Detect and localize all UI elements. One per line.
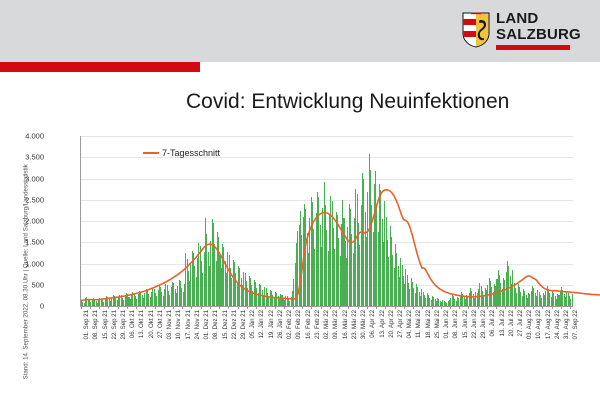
x-axis-tick-label: 13. Jul 22 [499, 310, 506, 336]
x-axis-tick [450, 306, 451, 309]
logo-line-salzburg: SALZBURG [496, 27, 581, 43]
header-accent-bar [0, 62, 200, 72]
x-axis-tick-label: 17. Nov 21 [185, 310, 192, 339]
y-axis-tick-label: 500 [2, 280, 44, 289]
x-axis-tick-label: 20. Apr 22 [388, 310, 395, 338]
x-axis-tick [265, 306, 266, 309]
x-axis-tick [90, 306, 91, 309]
x-axis-tick [81, 306, 82, 309]
x-axis-tick-label: 09. Mär 22 [332, 310, 339, 339]
x-axis-tick-label: 29. Jun 22 [480, 310, 487, 338]
x-axis-tick [348, 306, 349, 309]
x-axis-tick [496, 306, 497, 309]
x-axis-tick-label: 10. Nov 21 [175, 310, 182, 339]
y-axis-tick-label: 4.000 [2, 132, 44, 141]
salzburg-coat-of-arms-icon [462, 12, 490, 48]
x-axis-tick [219, 306, 220, 309]
y-axis-tick-label: 1.500 [2, 238, 44, 247]
x-axis-tick [570, 306, 571, 309]
x-axis-tick [459, 306, 460, 309]
y-axis-tick-label: 3.500 [2, 153, 44, 162]
x-axis-tick [201, 306, 202, 309]
x-axis-tick [533, 306, 534, 309]
x-axis-tick [542, 306, 543, 309]
x-axis-tick-label: 26. Jän 22 [277, 310, 284, 338]
x-axis-tick [505, 306, 506, 309]
x-axis-tick [145, 306, 146, 309]
x-axis-tick [228, 306, 229, 309]
x-axis-tick-label: 07. Sep 22 [572, 310, 579, 339]
x-axis-tick-label: 06. Okt 21 [129, 310, 136, 338]
x-axis-tick [210, 306, 211, 309]
x-axis-tick [561, 306, 562, 309]
x-axis-tick-label: 19. Jän 22 [268, 310, 275, 338]
legend-label-seven-day-average: 7-Tagesschnitt [162, 148, 220, 158]
x-axis-tick-label: 12. Jän 22 [258, 310, 265, 338]
covid-new-infections-chart: 7-Tagesschnitt 05001.0001.5002.0002.5003… [32, 132, 588, 377]
x-axis-tick [256, 306, 257, 309]
x-axis-tick-label: 23. Mär 22 [351, 310, 358, 339]
x-axis-tick-label: 08. Sep 21 [92, 310, 99, 339]
x-axis-tick [395, 306, 396, 309]
x-axis-tick-label: 27. Okt 21 [157, 310, 164, 338]
x-axis-tick-label: 29. Dez 21 [240, 310, 247, 339]
x-axis-tick-label: 16. Mär 22 [342, 310, 349, 339]
x-axis-tick [191, 306, 192, 309]
x-axis-tick-label: 08. Dez 21 [212, 310, 219, 339]
x-axis-tick [155, 306, 156, 309]
x-axis-tick-label: 09. Feb 22 [295, 310, 302, 339]
x-axis-tick [339, 306, 340, 309]
x-axis-tick [432, 306, 433, 309]
x-axis-tick-label: 03. Nov 21 [166, 310, 173, 339]
x-axis-tick-label: 24. Nov 21 [194, 310, 201, 339]
logo-line-land: LAND [496, 11, 581, 27]
x-axis-tick-label: 06. Apr 22 [369, 310, 376, 338]
x-axis-tick [99, 306, 100, 309]
x-axis-tick-label: 11. Mai 22 [415, 310, 422, 338]
x-axis-tick-label: 01. Dez 21 [203, 310, 210, 339]
page-title: Covid: Entwicklung Neuinfektionen [186, 90, 509, 114]
x-axis-tick-label: 01. Jun 22 [443, 310, 450, 338]
x-axis-tick-label: 18. Mai 22 [425, 310, 432, 338]
seven-day-average-line [81, 136, 573, 306]
x-axis-tick [330, 306, 331, 309]
x-axis-labels: 01. Sep 2108. Sep 2115. Sep 2122. Sep 21… [80, 310, 572, 372]
x-axis-tick-label: 15. Sep 21 [102, 310, 109, 339]
legend-line-swatch [143, 152, 159, 155]
x-axis-tick [376, 306, 377, 309]
x-axis-tick-label: 31. Aug 22 [563, 310, 570, 339]
x-axis-tick [293, 306, 294, 309]
x-axis-tick [302, 306, 303, 309]
x-axis-tick-label: 01. Sep 21 [83, 310, 90, 339]
x-axis-tick-label: 22. Dez 21 [231, 310, 238, 339]
x-axis-tick-label: 06. Jul 22 [489, 310, 496, 336]
x-axis-tick-label: 20. Jul 22 [508, 310, 515, 336]
x-axis-tick-label: 17. Aug 22 [545, 310, 552, 339]
x-axis-tick [136, 306, 137, 309]
x-axis-tick-label: 08. Jun 22 [452, 310, 459, 338]
x-axis-tick [404, 306, 405, 309]
x-axis-tick-label: 23. Feb 22 [314, 310, 321, 339]
x-axis-tick-label: 15. Dez 21 [222, 310, 229, 339]
x-axis-tick-label: 22. Jun 22 [471, 310, 478, 338]
x-axis-tick [441, 306, 442, 309]
x-axis-tick [311, 306, 312, 309]
x-axis-tick [118, 306, 119, 309]
x-axis-tick-label: 27. Apr 22 [397, 310, 404, 338]
x-axis-tick [367, 306, 368, 309]
x-axis-tick-label: 16. Feb 22 [305, 310, 312, 339]
x-axis-tick-label: 13. Okt 21 [138, 310, 145, 338]
x-axis-tick-label: 22. Sep 21 [111, 310, 118, 339]
plot-area: 7-Tagesschnitt [80, 136, 573, 307]
y-axis-tick-label: 2.000 [2, 217, 44, 226]
x-axis-tick-label: 02. Feb 22 [286, 310, 293, 339]
logo-underline [496, 45, 570, 50]
x-axis-tick [108, 306, 109, 309]
y-axis-tick-label: 3.000 [2, 174, 44, 183]
land-salzburg-logo: LAND SALZBURG [462, 12, 584, 56]
x-axis-tick-label: 29. Sep 21 [120, 310, 127, 339]
x-axis-tick-label: 25. Mai 22 [434, 310, 441, 338]
x-axis-tick [182, 306, 183, 309]
x-axis-tick [164, 306, 165, 309]
x-axis-tick-label: 24. Aug 22 [554, 310, 561, 339]
x-axis-tick [524, 306, 525, 309]
x-axis-tick [515, 306, 516, 309]
x-axis-tick [422, 306, 423, 309]
x-axis-tick [238, 306, 239, 309]
chart-legend: 7-Tagesschnitt [143, 148, 220, 158]
x-axis-tick [487, 306, 488, 309]
x-axis-tick [284, 306, 285, 309]
x-axis-tick-label: 02. Mär 22 [323, 310, 330, 339]
x-axis-tick [478, 306, 479, 309]
x-axis-tick [247, 306, 248, 309]
y-axis-tick-label: 1.000 [2, 259, 44, 268]
x-axis-tick [413, 306, 414, 309]
x-axis-tick-label: 27. Jul 22 [517, 310, 524, 336]
logo-wordmark: LAND SALZBURG [496, 11, 581, 42]
x-axis-tick-label: 15. Jun 22 [462, 310, 469, 338]
x-axis-tick [468, 306, 469, 309]
x-axis-tick [127, 306, 128, 309]
x-axis-tick-label: 03. Aug 22 [526, 310, 533, 339]
x-axis-tick [321, 306, 322, 309]
x-axis-tick [385, 306, 386, 309]
x-axis-tick [275, 306, 276, 309]
y-axis-tick-label: 2.500 [2, 195, 44, 204]
x-axis-tick-label: 05. Jän 22 [249, 310, 256, 338]
x-axis-tick [552, 306, 553, 309]
y-axis-tick-label: 0 [2, 302, 44, 311]
x-axis-tick-label: 04. Mai 22 [406, 310, 413, 338]
x-axis-tick-label: 13. Apr 22 [379, 310, 386, 338]
x-axis-tick [358, 306, 359, 309]
x-axis-tick-label: 20. Okt 21 [148, 310, 155, 338]
x-axis-tick-label: 30. Mär 22 [360, 310, 367, 339]
x-axis-tick [173, 306, 174, 309]
x-axis-tick-label: 10. Aug 22 [535, 310, 542, 339]
